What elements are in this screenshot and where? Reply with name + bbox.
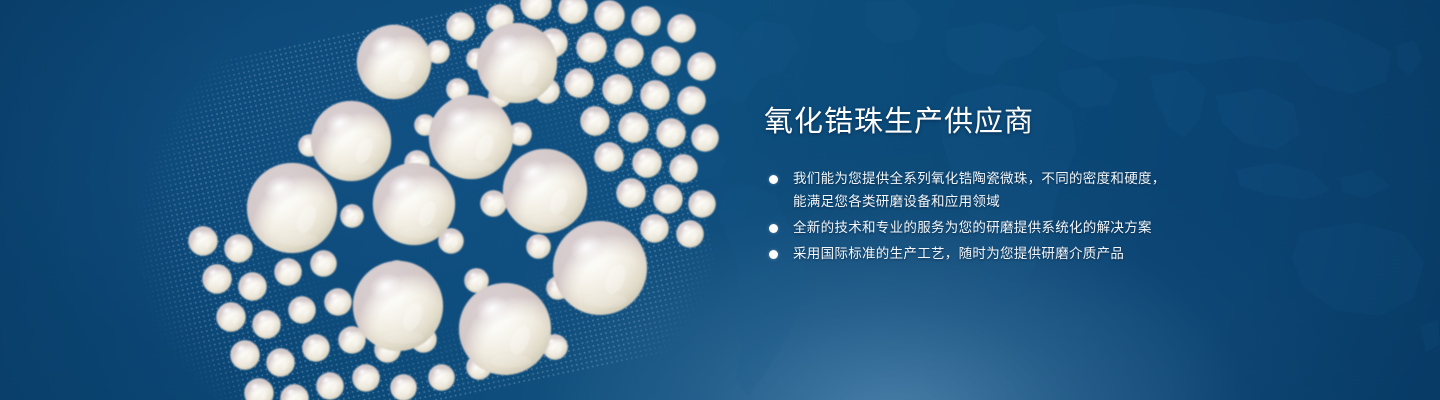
list-item-line: 采用国际标准的生产工艺，随时为您提供研磨介质产品 bbox=[793, 243, 1234, 265]
hero-banner: 氧化锆珠生产供应商 我们能为您提供全系列氧化锆陶瓷微珠，不同的密度和硬度， 能满… bbox=[0, 0, 1440, 400]
banner-copy: 氧化锆珠生产供应商 我们能为您提供全系列氧化锆陶瓷微珠，不同的密度和硬度， 能满… bbox=[764, 104, 1234, 265]
list-item-line: 全新的技术和专业的服务为您的研磨提供系统化的解决方案 bbox=[793, 217, 1234, 239]
list-item: 全新的技术和专业的服务为您的研磨提供系统化的解决方案 bbox=[764, 217, 1234, 239]
bullet-dot-icon bbox=[769, 224, 778, 233]
page-title: 氧化锆珠生产供应商 bbox=[764, 104, 1234, 140]
list-item: 采用国际标准的生产工艺，随时为您提供研磨介质产品 bbox=[764, 243, 1234, 265]
zirconia-beads-image bbox=[128, 0, 728, 400]
bullet-dot-icon bbox=[769, 175, 778, 184]
list-item-line: 我们能为您提供全系列氧化锆陶瓷微珠，不同的密度和硬度， bbox=[793, 168, 1234, 190]
list-item: 我们能为您提供全系列氧化锆陶瓷微珠，不同的密度和硬度， 能满足您各类研磨设备和应… bbox=[764, 168, 1234, 213]
bullet-dot-icon bbox=[769, 250, 778, 259]
list-item-line: 能满足您各类研磨设备和应用领域 bbox=[793, 191, 1234, 213]
feature-list: 我们能为您提供全系列氧化锆陶瓷微珠，不同的密度和硬度， 能满足您各类研磨设备和应… bbox=[764, 168, 1234, 265]
